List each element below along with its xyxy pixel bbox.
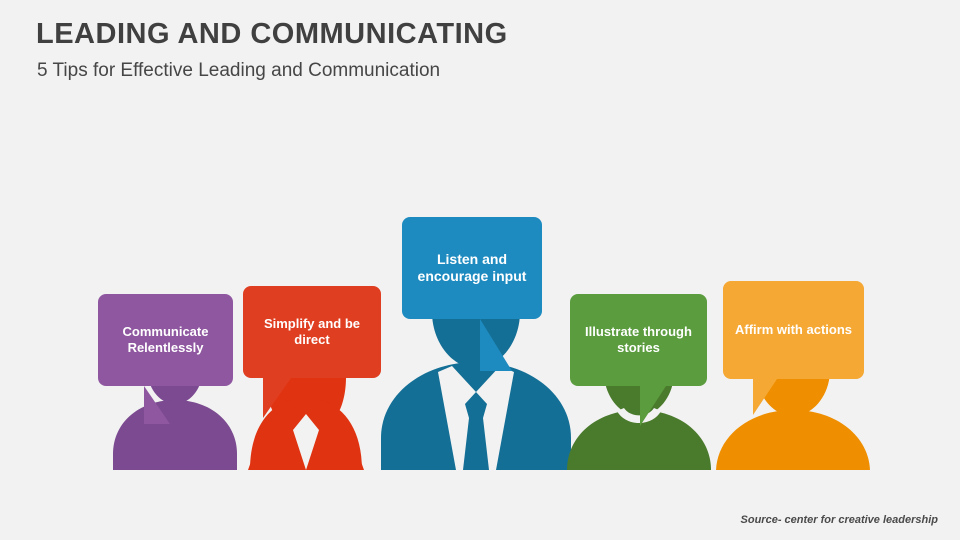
- speech-bubble-label: Illustrate through stories: [580, 324, 697, 357]
- speech-bubble-label: Simplify and be direct: [253, 316, 371, 349]
- slide-canvas: LEADING AND COMMUNICATING 5 Tips for Eff…: [0, 0, 960, 540]
- speech-bubble-tail: [640, 386, 666, 426]
- speech-bubble-tail: [753, 379, 777, 415]
- speech-bubble-listen-and-encourage-input[interactable]: Listen and encourage input: [402, 217, 542, 319]
- page-subtitle: 5 Tips for Effective Leading and Communi…: [37, 60, 440, 82]
- speech-bubble-tail: [263, 378, 291, 418]
- figure-stage: Communicate Relentlessly Simplify and be…: [0, 100, 960, 470]
- speech-bubble-tail: [144, 386, 170, 424]
- speech-bubble-affirm-with-actions[interactable]: Affirm with actions: [723, 281, 864, 379]
- speech-bubble-illustrate-through-stories[interactable]: Illustrate through stories: [570, 294, 707, 386]
- source-credit: Source- center for creative leadership: [741, 514, 938, 526]
- page-title: LEADING AND COMMUNICATING: [36, 18, 508, 51]
- speech-bubble-communicate-relentlessly[interactable]: Communicate Relentlessly: [98, 294, 233, 386]
- speech-bubble-tail: [480, 319, 512, 371]
- speech-bubble-label: Affirm with actions: [735, 322, 852, 338]
- speech-bubble-label: Listen and encourage input: [412, 251, 532, 286]
- speech-bubble-label: Communicate Relentlessly: [108, 324, 223, 357]
- speech-bubble-simplify-and-be-direct[interactable]: Simplify and be direct: [243, 286, 381, 378]
